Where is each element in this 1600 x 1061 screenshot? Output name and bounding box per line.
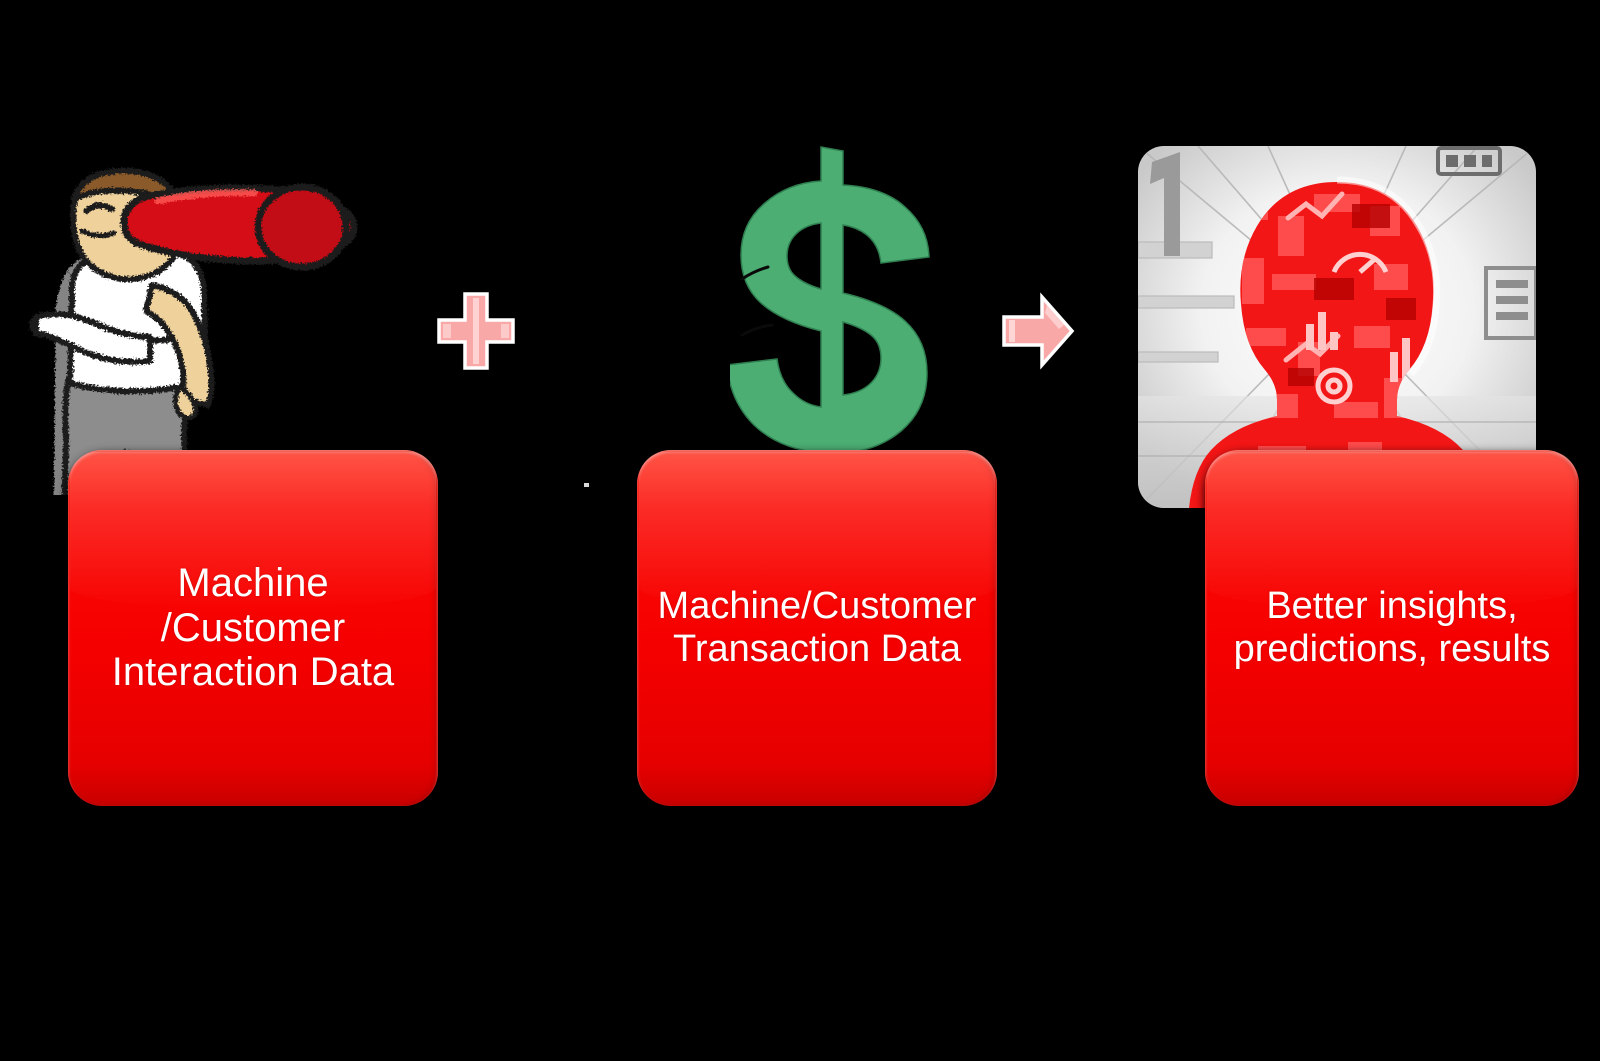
callout-box-transaction-data-label: Machine/Customer Transaction Data: [658, 585, 977, 670]
person-with-telescope-icon: [12, 135, 412, 495]
callout-box-results-label: Better insights, predictions, results: [1234, 585, 1551, 670]
callout-box-transaction-data[interactable]: Machine/Customer Transaction Data: [637, 450, 997, 806]
dollar-sign-icon: [730, 145, 940, 465]
slide-canvas: Machine /Customer Interaction Data Machi…: [0, 0, 1600, 1061]
arrow-right-icon: [998, 291, 1076, 371]
plus-icon: [433, 288, 519, 374]
callout-box-results[interactable]: Better insights, predictions, results: [1205, 450, 1579, 806]
callout-box-interaction-data-label: Machine /Customer Interaction Data: [112, 561, 394, 695]
callout-box-interaction-data[interactable]: Machine /Customer Interaction Data: [68, 450, 438, 806]
image-artifact-speck: [584, 483, 589, 487]
